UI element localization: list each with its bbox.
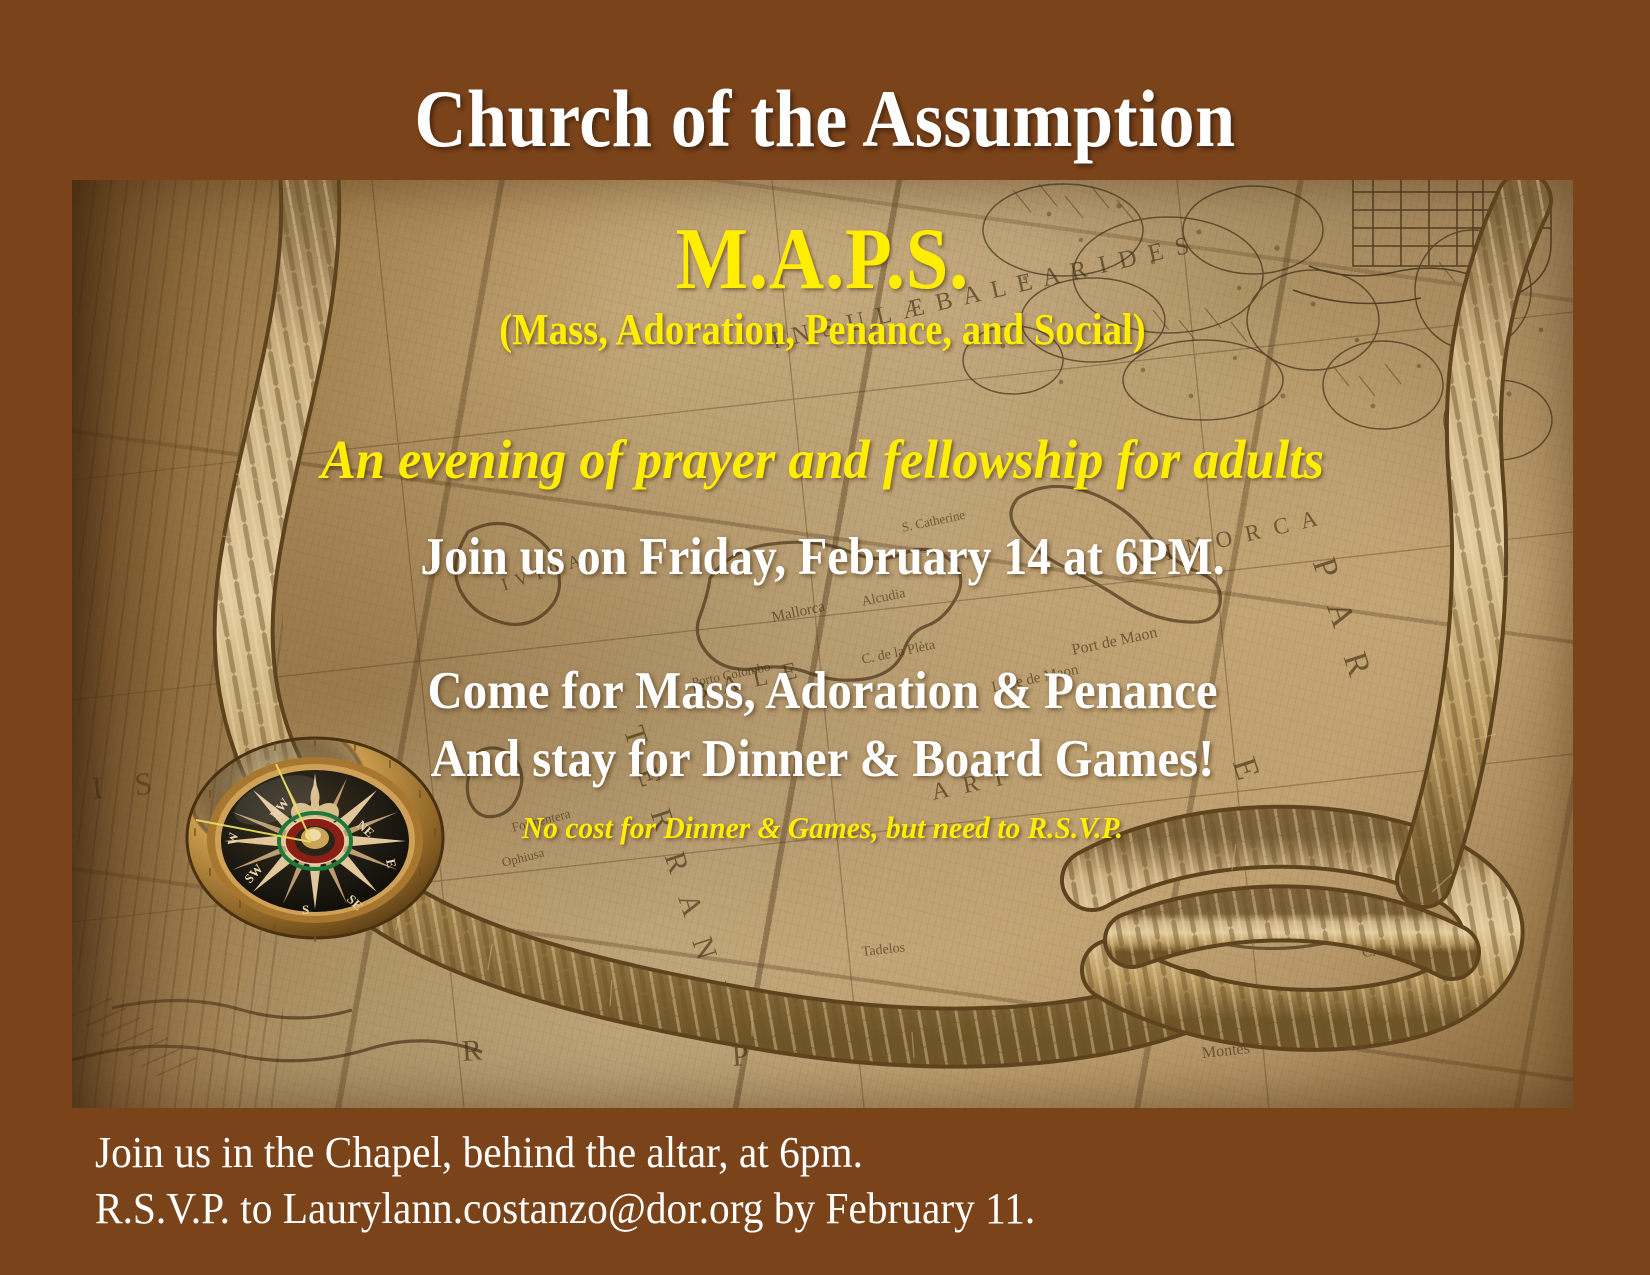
footer-block: Join us in the Chapel, behind the altar,… [95,1125,1095,1238]
tagline: An evening of prayer and fellowship for … [110,432,1536,488]
program-subtitle: (Mass, Adoration, Penance, and Social) [162,308,1483,353]
event-datetime: Join us on Friday, February 14 at 6PM. [147,530,1498,584]
no-cost-note: No cost for Dinner & Games, but need to … [110,812,1536,844]
map-photo: I N S U L Æ B A L E A R I D E SM I N O R… [72,180,1573,1108]
map-overlay-text: M.A.P.S. (Mass, Adoration, Penance, and … [72,180,1573,1108]
program-title: M.A.P.S. [170,215,1476,305]
page-title: Church of the Assumption [99,78,1551,160]
footer-location-line: Join us in the Chapel, behind the altar,… [95,1125,1035,1181]
footer-rsvp-line: R.S.V.P. to Laurylann.costanzo@dor.org b… [95,1181,1035,1237]
flyer-poster: Church of the Assumption [0,0,1650,1275]
come-for-line: Come for Mass, Adoration & Penance [132,664,1513,718]
stay-for-line: And stay for Dinner & Board Games! [132,732,1513,786]
